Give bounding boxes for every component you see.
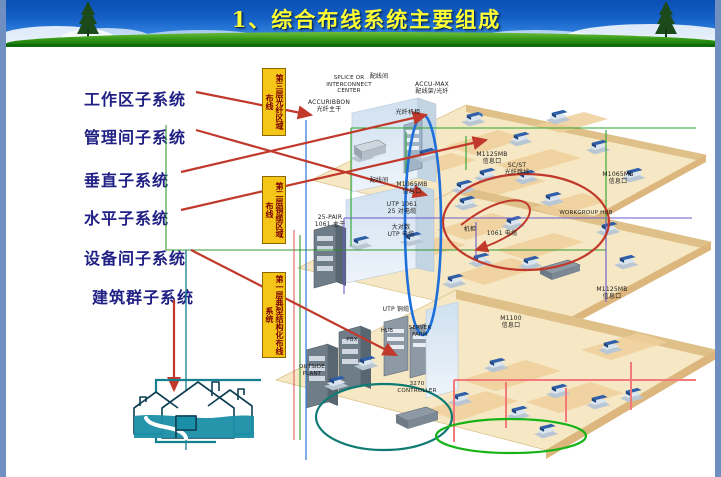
diagram-label-22: OUTSIDE PLANT [291,364,333,377]
diagram-label-21: HUB [376,328,398,335]
diagram-label-5: 光纤机柜 [386,110,430,117]
diagram-label-13: M1065MB 信息口 [595,172,641,185]
presentation-slide: 1、综合布线系统主要组成 工作区子系统管理间子系统垂直子系统水平子系统设备间子系… [0,0,721,477]
diagram-label-3: 配线间 [362,74,396,81]
diagram-label-24: M1100 信息口 [490,316,532,329]
banner-divider [6,44,721,47]
diagram-label-2: ACCURIBBON 光纤主干 [298,100,360,113]
diagram-label-4: ACCU-MAX 配线架/光纤 [401,82,463,95]
diagram-artwork [6,50,721,477]
pointer-arrow-1 [196,92,311,115]
diagram-label-14: WORKGROUP HUB [553,210,619,217]
diagram-label-16: 1061 电缆 [482,231,522,238]
diagram-label-23: 3270 CONTROLLER [386,381,448,394]
building-group-icon [126,372,276,447]
diagram-label-19: PBX [340,337,364,344]
floor-tag-1: 第三层光纤区域布线 [262,68,286,136]
diagram-label-18: UTP 铜缆 [376,307,416,314]
diagram-label-9: 大对数 UTP 电缆 [378,225,424,238]
diagram-label-10: 25-PAIR 1061 主干 [306,215,354,228]
diagram-label-7: M1065MB 信息口 [389,182,435,195]
diagram-label-17: M1125MB 信息口 [589,287,635,300]
page-title: 1、综合布线系统主要组成 [6,4,721,34]
diagram-label-8: UTP 1061 25 对电缆 [376,202,428,215]
diagram-label-20: SERVER FARM [400,325,440,338]
diagram-label-15: 机柜 [458,227,482,234]
floor-tag-2: 第二层铜缆区域布线 [262,176,286,244]
diagram-label-12: SC/ST 光纤跳线 [496,163,538,176]
floor-tag-3: 第一层典型结构化布线系统 [262,272,286,358]
structured-cabling-diagram: 第三层光纤区域布线第二层铜缆区域布线第一层典型结构化布线系统 SPLICE OR… [6,50,721,477]
